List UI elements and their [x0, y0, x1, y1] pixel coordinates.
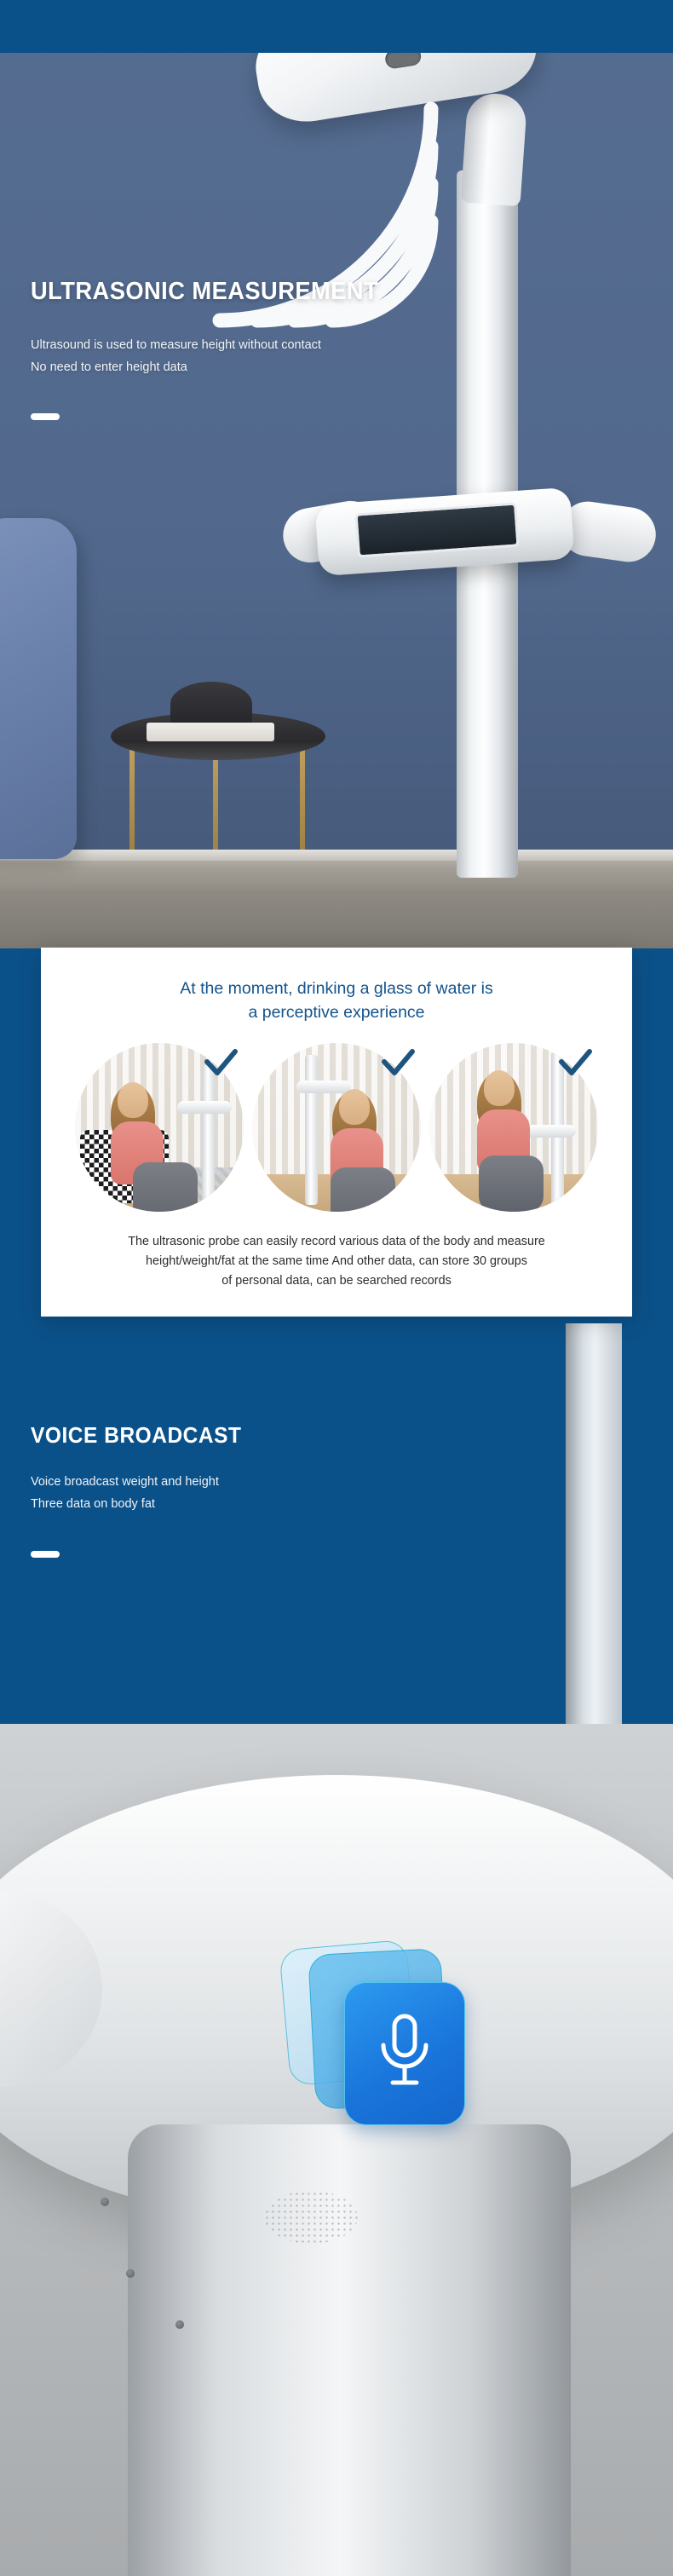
card-photo-item[interactable]: [75, 1043, 244, 1212]
measurement-console: [290, 493, 656, 585]
table-leg: [300, 738, 305, 859]
divider-dash: [31, 1551, 60, 1558]
card-zone: At the moment, drinking a glass of water…: [0, 948, 673, 1323]
card-title-line-1: At the moment, drinking a glass of water…: [63, 977, 610, 1000]
subject-head: [118, 1082, 148, 1118]
wall-skirting: [0, 850, 673, 861]
floor-surface: [0, 856, 673, 948]
section-title: VOICE BROADCAST: [31, 1422, 241, 1449]
microphone-badge: [285, 1945, 480, 2141]
screw-hole: [175, 2320, 184, 2329]
device-closeup-section: [0, 1724, 673, 2576]
scale-pole: [305, 1055, 318, 1205]
subject-legs: [331, 1167, 395, 1212]
card-photo-item[interactable]: [429, 1043, 598, 1212]
screw-hole: [126, 2269, 135, 2278]
voice-subtitle-line-2: Three data on body fat: [31, 1493, 255, 1515]
card-description-line-3: of personal data, can be searched record…: [78, 1271, 595, 1291]
hero-subtitle-line-2: No need to enter height data: [31, 356, 400, 378]
subject-head: [484, 1070, 515, 1106]
voice-text-block: VOICE BROADCAST Voice broadcast weight a…: [31, 1422, 255, 1558]
page-title: ULTRASONIC MEASUREMENT: [31, 278, 378, 306]
voice-broadcast-section: VOICE BROADCAST Voice broadcast weight a…: [0, 1323, 673, 1724]
speaker-grille: [264, 2191, 358, 2244]
card-photo-item[interactable]: [252, 1043, 421, 1212]
card-description-line-1: The ultrasonic probe can easily record v…: [78, 1232, 595, 1252]
device-column: [566, 1323, 622, 1724]
hero-text-block: ULTRASONIC MEASUREMENT Ultrasound is use…: [31, 278, 400, 420]
card-title-line-2: a perceptive experience: [63, 1000, 610, 1024]
microphone-icon: [373, 2011, 436, 2091]
ultrasonic-measurement-section: ULTRASONIC MEASUREMENT Ultrasound is use…: [0, 0, 673, 948]
top-blue-bar: [0, 0, 673, 53]
divider-dash: [31, 413, 60, 420]
stacked-books: [147, 723, 274, 741]
device-column-closeup: [128, 2124, 571, 2576]
decor-figurine: [170, 682, 252, 726]
scale-arm: [177, 1101, 232, 1114]
product-detail-page: ULTRASONIC MEASUREMENT Ultrasound is use…: [0, 0, 673, 2576]
voice-subtitle: Voice broadcast weight and height Three …: [31, 1471, 255, 1515]
scale-pole: [202, 1065, 215, 1208]
scale-arm: [296, 1081, 351, 1093]
table-leg: [129, 738, 135, 859]
card-description: The ultrasonic probe can easily record v…: [78, 1232, 595, 1291]
voice-subtitle-line-1: Voice broadcast weight and height: [31, 1471, 255, 1493]
hero-subtitle: Ultrasound is used to measure height wit…: [31, 334, 400, 378]
card-description-line-2: height/weight/fat at the same time And o…: [78, 1252, 595, 1271]
subject-legs: [133, 1162, 198, 1212]
subject-head: [339, 1089, 370, 1125]
screw-hole: [101, 2198, 109, 2206]
check-icon: [555, 1045, 595, 1084]
check-icon: [201, 1045, 240, 1084]
subject-legs: [479, 1155, 544, 1212]
sofa-furniture: [0, 518, 77, 859]
hero-subtitle-line-1: Ultrasound is used to measure height wit…: [31, 334, 400, 356]
card-title: At the moment, drinking a glass of water…: [63, 977, 610, 1024]
feature-card: At the moment, drinking a glass of water…: [41, 948, 632, 1317]
check-icon: [378, 1045, 417, 1084]
card-photo-row: [75, 1043, 598, 1212]
